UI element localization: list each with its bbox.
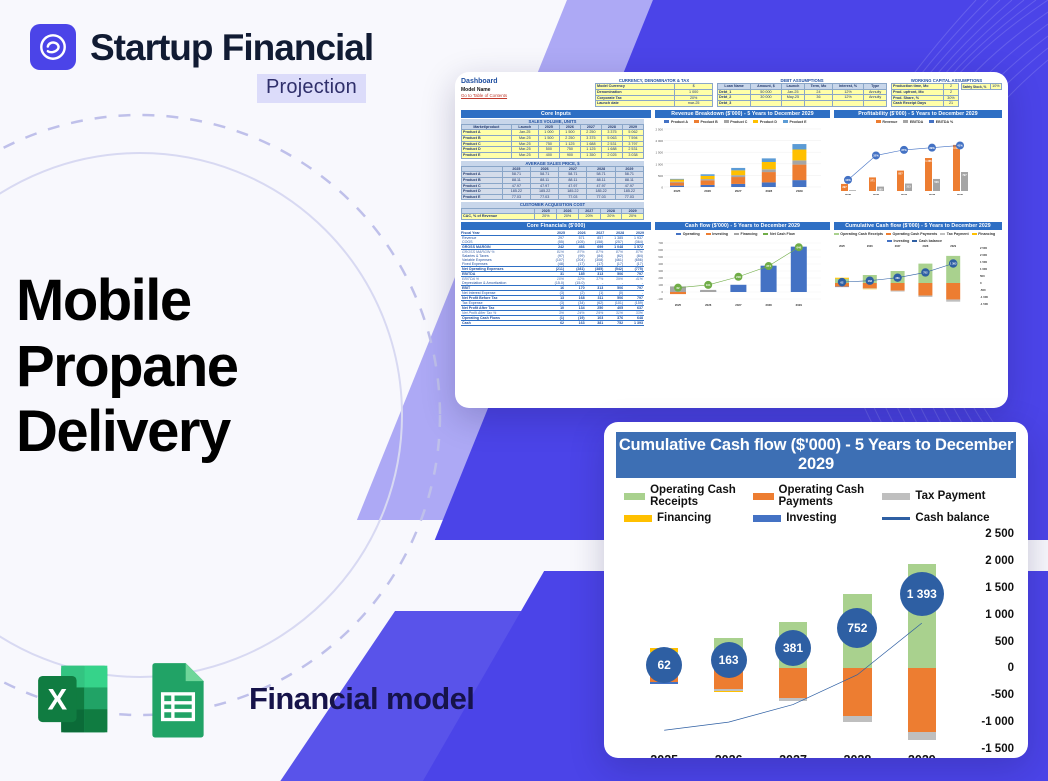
format-badges-label: Financial model [249,681,474,717]
svg-text:400: 400 [658,262,663,266]
cumulative-cash-flow-chart-small[interactable]: Operating Cash ReceiptsOperating Cash Pa… [827,231,1002,327]
svg-text:2025: 2025 [675,303,682,307]
dashboard-preview-card[interactable]: Dashboard Model Name Go to Table of Cont… [455,72,1008,408]
y-tick: 2 500 [985,528,1014,540]
cell: 400 [538,152,559,158]
cell [832,100,863,106]
cash-balance-nodes: 621633817521 393 [632,534,954,749]
profitability-chart[interactable]: RevenueEBITDAEBITDA % 297312025571185202… [827,119,1002,220]
cell: 77.03 [615,194,643,200]
svg-text:600: 600 [658,248,663,252]
legend-item: Net Cash Flow [763,232,794,236]
y-tick: 1 000 [985,609,1014,621]
svg-text:X: X [48,683,68,716]
legend-item: Financing [972,232,995,236]
svg-text:163: 163 [868,279,873,283]
cac-value: 20% [578,214,600,220]
legend-label: Product D [760,120,777,124]
legend-swatch [886,233,891,236]
safety-stock-value: 10% [990,84,1001,90]
y-tick: 2 000 [985,555,1014,567]
legend-item: Product E [783,120,806,124]
svg-text:2029: 2029 [796,303,803,307]
svg-text:2025: 2025 [674,189,681,193]
svg-text:2026: 2026 [705,303,712,307]
core-inputs-band: Core Inputs [461,110,651,118]
svg-text:2 500: 2 500 [655,127,663,131]
sales-volume-table: Market/productLaunch20252026202720282029… [461,124,644,159]
row-label: Cash [461,320,545,325]
google-sheets-icon [137,658,219,740]
cashflow-chart-band: Cash flow ($'000) - 5 Years to December … [655,222,830,230]
legend-label: Revenue [882,120,897,124]
svg-text:2029: 2029 [950,244,956,248]
brand-title: Startup Financial [90,29,373,66]
legend-item: EBITDA [903,120,923,124]
legend-label: Tax Payment [915,490,985,502]
safety-stock-label: Safety Stock, % [961,84,990,90]
legend-item: Revenue [876,120,897,124]
svg-text:2026: 2026 [704,189,711,193]
cumulative-chart-legend: Operating Cash ReceiptsOperating Cash Pa… [616,478,1016,530]
legend-swatch [876,120,881,123]
revenue-breakdown-plot: 05001 0001 5002 0002 5002025202620272028… [648,125,823,195]
format-badges: X Financial model [33,658,474,740]
cash-flow-chart[interactable]: OperatingInvestingFinancingNet Cash Flow… [648,231,823,327]
cell: 77.03 [531,194,559,200]
legend-swatch [706,233,711,236]
cell [864,100,887,106]
profitability-chart-band: Profitability ($'000) - 5 Years to Decem… [834,110,1002,118]
svg-text:200: 200 [658,276,663,280]
legend-label: Investing [712,232,728,236]
cumulative-chart-band: Cumulative Cash flow ($'000) - 5 Years t… [834,222,1002,230]
svg-text:0: 0 [661,185,663,189]
svg-text:381: 381 [895,276,900,280]
svg-text:500: 500 [658,174,663,178]
legend-swatch [834,233,839,236]
svg-text:797: 797 [962,173,967,177]
legend-label: Product C [730,120,747,124]
svg-text:39%: 39% [929,146,935,150]
y-tick: -1 500 [981,743,1014,755]
legend-item: Tax Payment [940,232,968,236]
cell: 77.03 [559,194,587,200]
cash-balance-node: 1 393 [900,572,944,616]
legend-label: Tax Payment [947,232,969,236]
legend-label: Operating Cash Payments [893,232,938,236]
dashboard-toc-link[interactable]: Go to Table of Contents [461,93,591,99]
svg-text:500: 500 [980,274,985,278]
safety-stock-table: Safety Stock, % 10% [961,83,1002,90]
page-title-line-3: Delivery [16,399,238,465]
cash-balance-node: 62 [646,647,682,683]
legend-item: Tax Payment [882,484,1011,508]
cumulative-small-plot: 2 5002 0001 5001 0005000-500-1 000-1 500… [827,244,1002,322]
legend-label: Cash balance [915,512,989,524]
svg-text:2025: 2025 [839,244,845,248]
legend-item: Operating Cash Receipts [834,232,883,236]
cumulative-chart-plot: 621633817521 393 2 5002 0001 5001 000500… [616,534,1016,749]
legend-label: Product B [701,120,718,124]
svg-text:-100: -100 [657,297,663,301]
page-title: Mobile Propane Delivery [16,268,238,465]
legend-swatch [664,120,669,123]
svg-text:2027: 2027 [901,193,908,195]
legend-item: EBITDA % [929,120,953,124]
legend-label: Product E [790,120,807,124]
legend-swatch [882,517,910,520]
table-row: Product E77.0377.0377.0377.0377.03 [462,194,644,200]
svg-text:31: 31 [851,191,854,195]
currency-label: Launch date [596,101,675,107]
svg-text:2029: 2029 [957,193,964,195]
svg-text:2028: 2028 [929,193,936,195]
legend-item: Cash balance [882,512,1011,524]
legend-swatch [624,515,652,522]
legend-item: Investing [706,232,728,236]
legend-label: Financing [657,512,711,524]
cell [805,100,833,106]
cash-balance-node: 752 [837,608,877,648]
svg-text:2028: 2028 [765,189,772,193]
svg-text:100: 100 [658,283,663,287]
legend-item: Operating Cash Receipts [624,484,753,508]
cumulative-chart-title: Cumulative Cash flow ($'000) - 5 Years t… [616,432,1016,478]
legend-item: Product D [753,120,777,124]
revenue-chart-band: Revenue Breakdown ($'000) - 5 Years to D… [655,110,830,118]
cac-value: 20% [557,214,579,220]
currency-value: mar-25 [675,101,713,107]
legend-swatch [753,493,773,500]
legend-label: EBITDA [910,120,923,124]
cell: 3 038 [622,152,643,158]
svg-text:506: 506 [934,180,939,184]
cac-value: 20% [622,214,644,220]
svg-text:2028: 2028 [765,303,772,307]
legend-swatch [882,493,910,500]
cell: 1 393 [624,320,644,325]
core-financials-table: Fiscal Year20252026202720282029 Revenue2… [461,231,644,326]
y-tick: 0 [1008,662,1014,674]
legend-swatch [887,240,892,243]
cell: Mar-25 [511,152,538,158]
legend-swatch [912,240,917,243]
svg-text:-500: -500 [980,288,986,292]
svg-text:101: 101 [706,283,711,287]
y-tick: -1 000 [981,716,1014,728]
svg-text:640: 640 [796,245,801,249]
legend-item: Product B [694,120,718,124]
legend-label: Net Cash Flow [770,232,795,236]
svg-text:41%: 41% [957,143,963,147]
legend-item: Investing [887,239,909,243]
cell: 900 [559,152,580,158]
legend-label: Operating [683,232,700,236]
svg-text:2 500: 2 500 [980,246,987,250]
svg-text:2027: 2027 [895,244,901,248]
working-capital-table: Production time, Mo2Prod. upfront, Mo2Pr… [891,83,959,107]
legend-item: Operating Cash Payments [753,484,882,508]
legend-swatch [940,233,945,236]
svg-text:2029: 2029 [796,189,803,193]
legend-item: Investing [753,512,882,524]
avg-price-table: 20252026202720282029 Product A58.7158.71… [461,166,644,201]
legend-label: Investing [894,239,910,243]
svg-text:2027: 2027 [735,189,742,193]
currency-table: Model Currency$Denomination1 000Corporat… [595,83,713,107]
cell [751,100,782,106]
svg-text:218: 218 [736,275,741,279]
cell [781,100,804,106]
legend-item: Cash balance [912,239,942,243]
y-tick: -500 [991,689,1014,701]
svg-text:2026: 2026 [873,193,880,195]
svg-text:0: 0 [980,281,982,285]
page-title-line-1: Mobile [16,268,238,334]
svg-text:1 000: 1 000 [655,162,663,166]
cash-flow-plot: -100010020030040050060070020252026202720… [648,237,823,317]
cac-value: 20% [600,214,622,220]
svg-text:1 385: 1 385 [925,159,932,163]
svg-text:2028: 2028 [923,244,929,248]
svg-text:1 500: 1 500 [980,260,987,264]
cell: 62 [545,320,566,325]
y-tick: 500 [995,636,1014,648]
legend-swatch [783,120,788,123]
legend-label: Cash balance [919,239,942,243]
svg-text:500: 500 [658,255,663,259]
excel-file-icon: X [33,658,115,740]
wc-value: 21 [944,101,958,107]
dashboard-title: Dashboard [461,78,591,87]
legend-item: Operating [676,232,699,236]
svg-text:297: 297 [842,185,847,189]
svg-text:37%: 37% [901,148,907,152]
svg-text:62: 62 [676,286,680,290]
legend-item: Operating Cash Payments [886,232,937,236]
page-title-line-2: Propane [16,334,238,400]
debt-table: Loan NameAmount, $LaunchTerm, MoInterest… [717,83,887,106]
table-row: Debt_3 [718,100,887,106]
cell: 381 [586,320,605,325]
svg-text:2025: 2025 [845,193,852,195]
legend-label: EBITDA % [936,120,953,124]
legend-swatch [694,120,699,123]
svg-text:857: 857 [898,171,903,175]
legend-label: Financing [741,232,758,236]
svg-text:1 000: 1 000 [980,267,987,271]
legend-swatch [763,233,768,236]
legend-label: Product A [671,120,688,124]
cell: 1 350 [580,152,601,158]
svg-text:2 000: 2 000 [655,139,663,143]
legend-swatch [929,120,934,123]
svg-text:300: 300 [658,269,663,273]
brand-subtitle: Projection [257,74,366,103]
legend-label: Operating Cash Receipts [650,484,753,508]
legend-item: Product C [724,120,748,124]
svg-text:1 393: 1 393 [950,262,957,266]
cell: 752 [604,320,624,325]
brand-subtitle-wrap: Projection [257,74,366,103]
svg-text:371: 371 [766,264,771,268]
cac-value: 20% [535,214,557,220]
cash-balance-node: 163 [711,642,747,678]
svg-text:2 000: 2 000 [980,253,987,257]
legend-swatch [676,233,681,236]
cell: Product E [462,152,512,158]
svg-text:-1 000: -1 000 [980,295,988,299]
table-row: Product EMar-254009001 3502 0253 038 [462,152,644,158]
legend-swatch [734,233,739,236]
cell: Debt_3 [718,100,751,106]
cell: 77.03 [502,194,530,200]
cell: 163 [565,320,586,325]
legend-label: Investing [786,512,836,524]
brand-logo: Startup Financial [30,24,373,70]
cash-balance-node: 381 [775,630,811,666]
svg-text:700: 700 [658,241,663,245]
wc-label: Cash Receipt Days [892,101,944,107]
svg-text:2026: 2026 [867,244,873,248]
legend-item: Product A [664,120,688,124]
y-tick: 1 500 [985,582,1014,594]
cell: 77.03 [587,194,615,200]
legend-label: Operating Cash Payments [779,484,883,508]
legend-swatch [753,515,781,522]
circle-e-logo-icon [30,24,76,70]
legend-swatch [753,120,758,123]
svg-text:185: 185 [878,187,883,191]
legend-swatch [903,120,908,123]
legend-swatch [624,493,645,500]
cac-table: 20252026202720282029 CAC, % of Revenue20… [461,208,644,220]
cac-label: CAC, % of Revenue [462,214,535,220]
svg-text:10%: 10% [845,178,851,182]
svg-text:752: 752 [923,271,928,275]
revenue-breakdown-chart[interactable]: Product AProduct BProduct CProduct DProd… [648,119,823,220]
svg-text:32%: 32% [873,153,879,157]
table-row: Cash Receipt Days21 [892,101,959,107]
table-row: Launch datemar-25 [596,101,713,107]
cumulative-cash-flow-card[interactable]: Cumulative Cash flow ($'000) - 5 Years t… [604,422,1028,758]
legend-swatch [972,233,977,236]
legend-label: Financing [978,232,995,236]
legend-label: Operating Cash Receipts [840,232,883,236]
svg-text:2027: 2027 [735,303,742,307]
svg-text:313: 313 [906,184,911,188]
legend-item: Financing [624,512,753,524]
profitability-plot: 297312025571185202685731320271 385506202… [827,125,1002,195]
legend-item: Financing [734,232,757,236]
svg-text:571: 571 [870,178,875,182]
svg-text:0: 0 [661,290,663,294]
core-financials-band: Core Financials ($'000) [461,222,651,230]
table-row: Cash621633817521 393 [461,320,644,325]
svg-text:1 500: 1 500 [655,150,663,154]
cell: Product E [462,194,503,200]
svg-text:-1 500: -1 500 [980,302,988,306]
cumulative-chart-y-axis: 2 5002 0001 5001 0005000-500-1 000-1 500 [958,534,1016,749]
legend-swatch [724,120,729,123]
cell: 2 025 [601,152,622,158]
